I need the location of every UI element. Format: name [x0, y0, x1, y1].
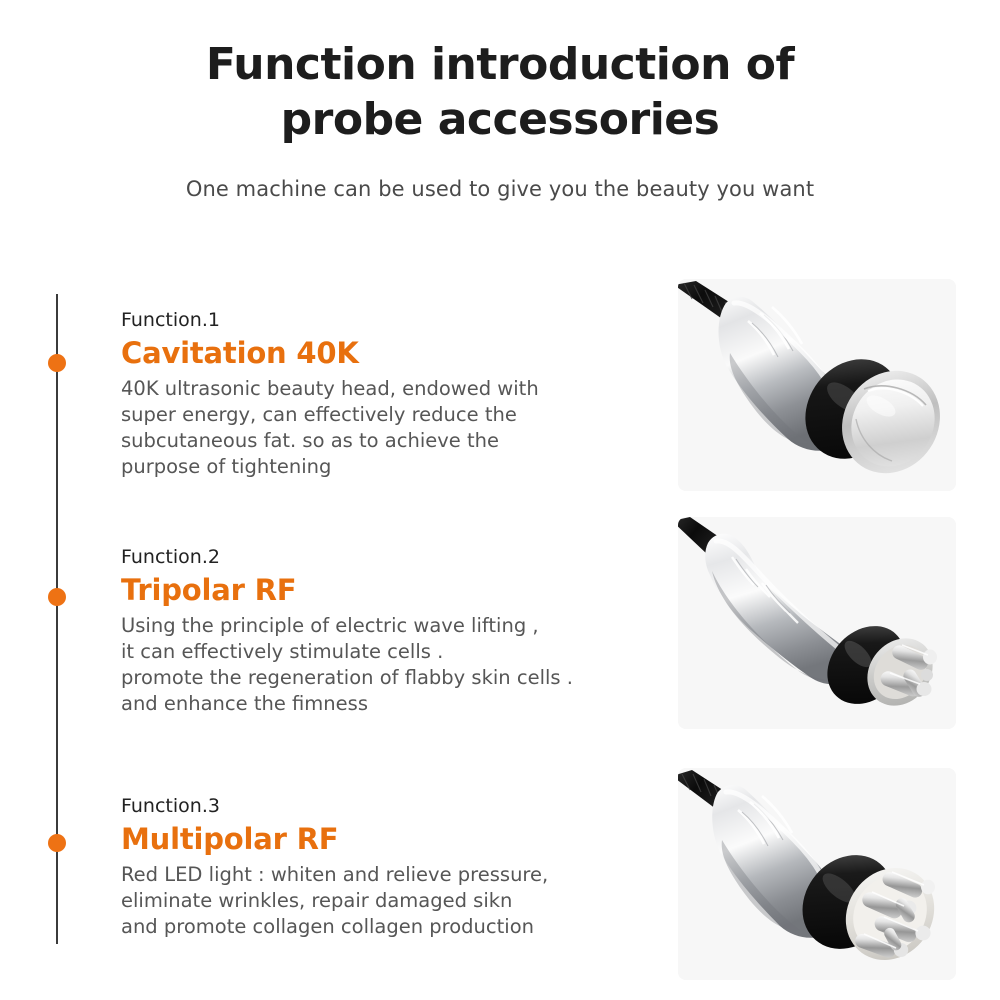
- function-2-title: Tripolar RF: [121, 573, 666, 608]
- function-3-title: Multipolar RF: [121, 822, 666, 857]
- function-block-1: Function.1 Cavitation 40K 40K ultrasonic…: [121, 308, 666, 480]
- timeline-dot-3: [48, 834, 66, 852]
- function-3-kicker: Function.3: [121, 794, 666, 820]
- page-header: Function introduction of probe accessori…: [0, 38, 1000, 201]
- page-subtitle: One machine can be used to give you the …: [0, 177, 1000, 201]
- cavitation-40k-probe-photo: [678, 279, 956, 491]
- tripolar-rf-probe-photo: [678, 517, 956, 729]
- page-title-line-2: probe accessories: [281, 94, 720, 145]
- page-title-line-2-wrap: probe accessories: [281, 93, 720, 148]
- function-3-description: Red LED light : whiten and relieve press…: [121, 862, 666, 940]
- function-1-kicker: Function.1: [121, 308, 666, 334]
- multipolar-rf-probe-photo: [678, 768, 956, 980]
- timeline-dot-1: [48, 354, 66, 372]
- function-block-3: Function.3 Multipolar RF Red LED light :…: [121, 794, 666, 940]
- function-2-description: Using the principle of electric wave lif…: [121, 613, 666, 717]
- function-block-2: Function.2 Tripolar RF Using the princip…: [121, 545, 666, 717]
- timeline-dot-2: [48, 588, 66, 606]
- page-title-line-1: Function introduction of: [0, 38, 1000, 93]
- function-2-kicker: Function.2: [121, 545, 666, 571]
- function-1-description: 40K ultrasonic beauty head, endowed with…: [121, 376, 666, 480]
- function-1-title: Cavitation 40K: [121, 336, 666, 371]
